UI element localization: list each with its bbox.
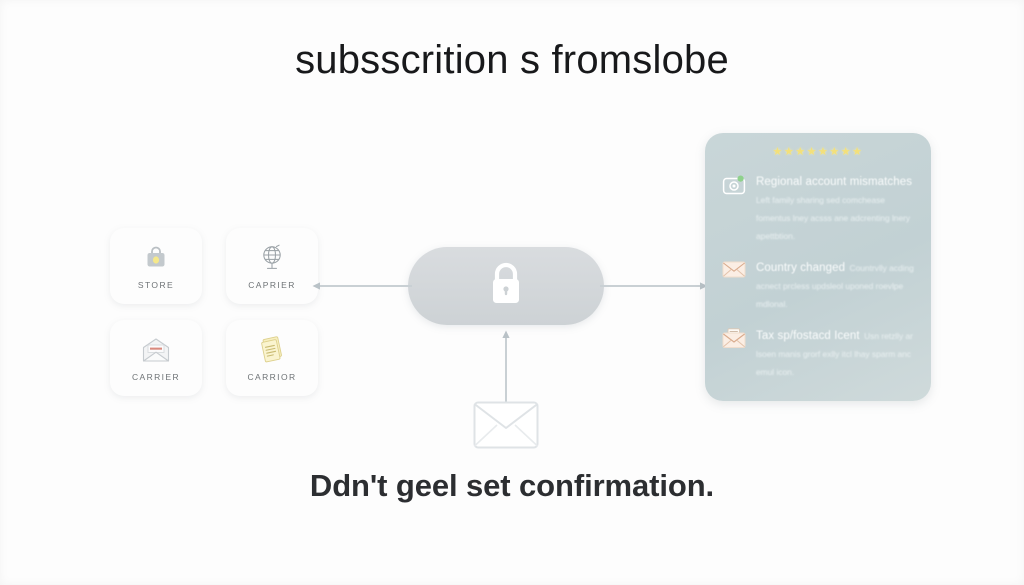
card-item-body: Left family sharing sed comchease foment… [756,195,910,241]
arrow-up-icon [498,330,514,408]
tile-label-carrior: CARRIOR [248,372,297,382]
card-item[interactable]: Tax sp/fostacd Icent Usn retzlly ar lsoe… [721,326,915,380]
document-stack-icon [255,335,289,365]
page-title: subsscrition s fromslobe [0,38,1024,83]
source-tile-grid: STORE CAPRIER [110,228,318,394]
tile-label-carrier: CARRIER [132,372,180,382]
star-rating: ★★★★★★★★ [721,147,915,158]
shopping-bag-icon [139,243,173,273]
envelope-document-icon [721,326,747,352]
card-item[interactable]: Country changed Countrvlly acding acnect… [721,258,915,312]
lock-pill[interactable] [408,247,604,325]
notification-card: ★★★★★★★★ Regional account mismatches Lef… [705,133,931,401]
card-item-title: Tax sp/fostacd Icent [756,330,860,342]
lock-icon [484,258,528,315]
envelope-icon [721,258,747,284]
open-envelope-icon [139,335,173,365]
arrow-right-icon [600,278,708,294]
camera-badge-icon [721,172,747,198]
tile-label-store: STORE [138,280,174,290]
tile-carrior-document[interactable]: CARRIOR [226,320,318,396]
envelope-outline-icon [473,401,539,449]
arrow-left-icon [312,278,412,294]
page-caption: Ddn't geel set confirmation. [0,468,1024,504]
tile-label-caprier: CAPRIER [248,280,296,290]
illustration-canvas: subsscrition s fromslobe STORE [0,0,1024,585]
tile-store[interactable]: STORE [110,228,202,304]
card-item-title: Regional account mismatches [756,176,912,188]
card-item-title: Country changed [756,262,845,274]
tile-carrier-envelope[interactable]: CARRIER [110,320,202,396]
globe-icon [255,243,289,273]
tile-caprier-globe[interactable]: CAPRIER [226,228,318,304]
card-item[interactable]: Regional account mismatches Left family … [721,172,915,244]
